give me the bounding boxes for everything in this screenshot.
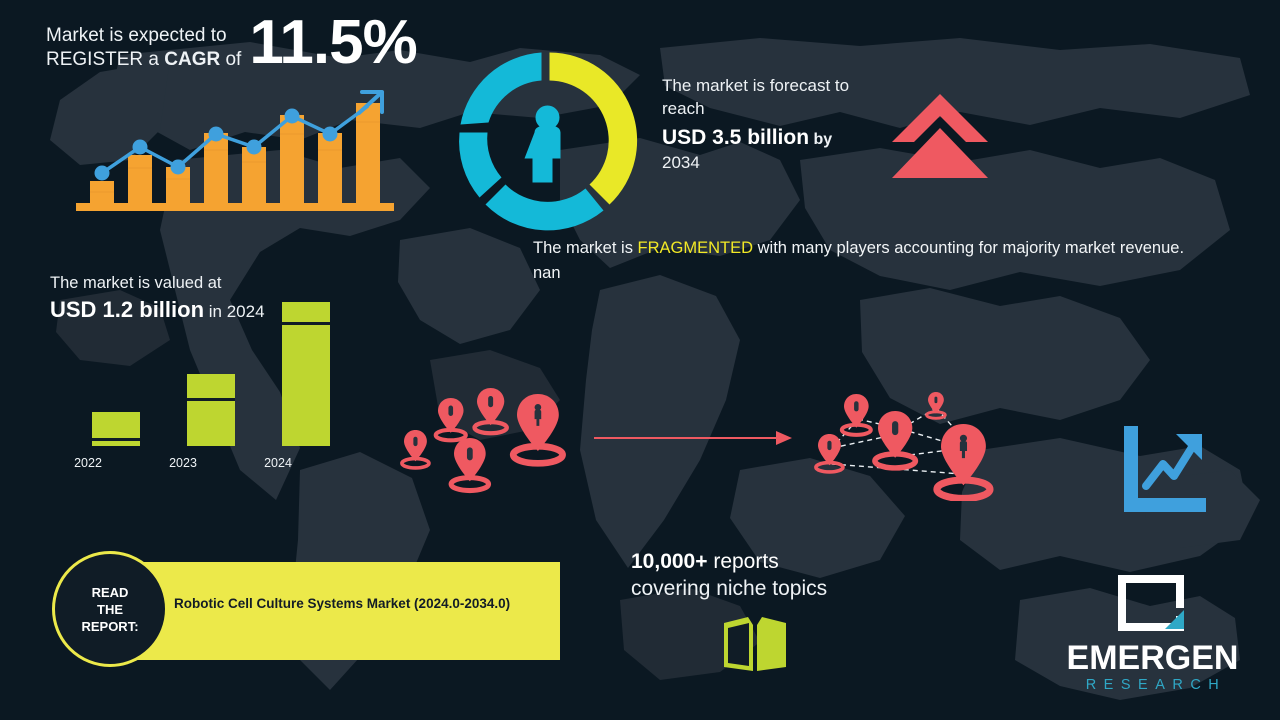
brand-tagline: RESEARCH	[1055, 677, 1250, 693]
map-pin-icon	[816, 434, 843, 472]
donut-segment-1	[550, 53, 638, 205]
scattered-market-pins	[382, 386, 582, 496]
double-up-chevron-icon	[888, 92, 992, 180]
growth-trend-chart	[62, 84, 407, 222]
map-pin-icon	[436, 398, 466, 440]
read-the-report-badge[interactable]: READ THE REPORT:	[52, 551, 168, 667]
reports-subtitle: covering niche topics	[631, 575, 931, 602]
badge-line-2: THE	[81, 601, 138, 618]
cagr-value: 11.5%	[249, 12, 416, 74]
read-the-report-label: READ THE REPORT:	[81, 584, 138, 635]
cagr-block: Market is expected to REGISTER a CAGR of…	[46, 18, 466, 74]
forecast-block: The market is forecast to reach USD 3.5 …	[662, 74, 892, 174]
map-pin-icon	[451, 438, 488, 491]
map-pin-icon	[842, 394, 871, 435]
cagr-keyword: CAGR	[164, 49, 220, 70]
cagr-label-line1: Market is expected to	[46, 24, 241, 48]
right-arrow-icon	[594, 428, 794, 448]
reports-count-suffix: reports	[708, 550, 779, 573]
infographic-canvas: Market is expected to REGISTER a CAGR of…	[0, 0, 1280, 720]
trend-up-chart-icon	[1118, 424, 1208, 514]
reports-count-line: 10,000+ reports	[631, 548, 931, 575]
growth-baseline	[76, 203, 394, 211]
badge-line-1: READ	[81, 584, 138, 601]
donut-segment-2	[486, 185, 604, 231]
valuation-lead: The market is valued at	[50, 272, 350, 294]
person-icon	[525, 106, 561, 183]
forecast-lead: The market is forecast to reach	[662, 74, 892, 120]
history-x-label-2024: 2024	[248, 456, 308, 470]
brand-name: EMERGEN	[1055, 639, 1250, 677]
brand-logo: EMERGEN RESEARCH	[1055, 572, 1250, 693]
donut-segment-3	[459, 133, 501, 198]
map-pin-icon	[875, 411, 916, 468]
historical-value-chart	[70, 296, 340, 446]
history-x-label-2022: 2022	[58, 456, 118, 470]
connected-market-pins	[806, 386, 1016, 501]
market-share-donut	[455, 48, 640, 233]
map-pin-icon	[937, 424, 990, 498]
fragmentation-pre: The market is	[533, 239, 638, 257]
cagr-label-line2-post: of	[220, 49, 241, 70]
cagr-label-line2-pre: REGISTER a	[46, 49, 164, 70]
report-banner[interactable]: Robotic Cell Culture Systems Market (202…	[108, 562, 560, 660]
forecast-year: 2034	[662, 152, 892, 174]
forecast-value: USD 3.5 billion	[662, 126, 809, 149]
history-x-label-2023: 2023	[153, 456, 213, 470]
history-bars	[92, 302, 330, 446]
cagr-label-line2: REGISTER a CAGR of	[46, 48, 241, 72]
open-book-icon	[722, 611, 788, 673]
map-pin-icon	[513, 394, 562, 463]
map-pin-icon	[402, 430, 429, 468]
fragmentation-highlight: FRAGMENTED	[638, 239, 754, 257]
forecast-by: by	[809, 131, 832, 148]
reports-count-value: 10,000+	[631, 550, 708, 573]
forecast-value-line: USD 3.5 billion by	[662, 125, 892, 152]
cagr-label: Market is expected to REGISTER a CAGR of	[46, 18, 241, 72]
emergen-logo-mark	[1115, 572, 1187, 634]
report-title: Robotic Cell Culture Systems Market (202…	[174, 590, 544, 618]
badge-line-3: REPORT:	[81, 618, 138, 635]
donut-segment-4	[461, 53, 542, 125]
fragmentation-note: The market is FRAGMENTED with many playe…	[533, 236, 1209, 286]
map-pin-icon	[475, 388, 507, 433]
reports-stat-block: 10,000+ reports covering niche topics	[631, 548, 931, 602]
